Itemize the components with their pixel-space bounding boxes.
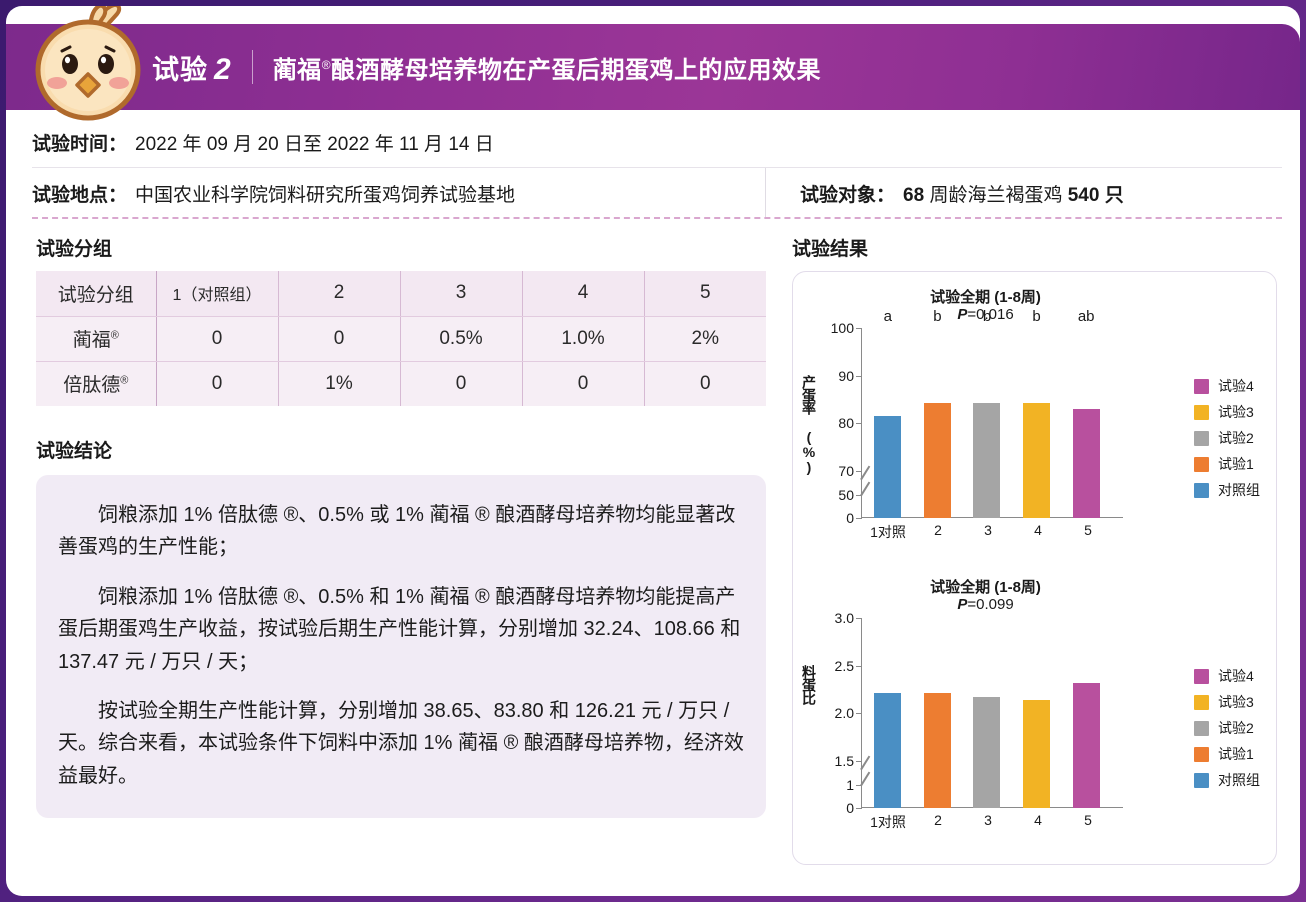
location-label: 试验地点： xyxy=(32,180,127,207)
chart-title: 试验全期 (1-8周) xyxy=(793,286,1278,307)
row-header: 倍肽德® xyxy=(36,361,156,406)
legend-swatch xyxy=(1194,379,1209,394)
registered-mark-icon: ® xyxy=(322,58,331,72)
bar xyxy=(874,416,901,518)
plot-area: 100 90 80 70 50 0 a b b b ab xyxy=(861,328,1111,518)
y-tick: 2.5 xyxy=(835,658,861,674)
plot-area: 3.0 2.5 2.0 1.5 1 0 xyxy=(861,618,1111,808)
legend-item: 试验2 xyxy=(1194,718,1260,738)
table-cell: 2 xyxy=(278,271,400,316)
y-axis-label: 产蛋率 (%) xyxy=(799,375,819,474)
bar-item: b xyxy=(962,328,1012,518)
legend-item: 试验1 xyxy=(1194,454,1260,474)
info-subject: 试验对象： 68 周龄海兰褐蛋鸡 540 只 xyxy=(766,168,1124,218)
subject-label: 试验对象： xyxy=(800,180,895,207)
experiment-number: 2 xyxy=(208,53,232,86)
info-row-location-subject: 试验地点： 中国农业科学院饲料研究所蛋鸡饲养试验基地 试验对象： 68 周龄海兰… xyxy=(32,168,1282,218)
legend-label: 对照组 xyxy=(1218,480,1260,500)
bar-item xyxy=(913,618,963,808)
bar xyxy=(1023,700,1050,808)
header-divider xyxy=(252,50,253,84)
table-row: 试验分组 1（对照组） 2 3 4 5 xyxy=(36,271,766,316)
y-tick: 0 xyxy=(846,510,861,526)
subject-value: 68 周龄海兰褐蛋鸡 540 只 xyxy=(895,180,1124,207)
x-tick: 2 xyxy=(913,522,963,542)
x-tick: 1对照 xyxy=(863,812,913,832)
legend-swatch xyxy=(1194,457,1209,472)
table-cell: 0 xyxy=(644,361,766,406)
table-cell: 1.0% xyxy=(522,316,644,361)
results-heading: 试验结果 xyxy=(792,234,1282,261)
legend-label: 试验1 xyxy=(1218,744,1254,764)
left-column: 试验分组 试验分组 1（对照组） 2 3 4 5 蔺福® 0 0 0.5% 1.… xyxy=(36,234,771,818)
bar-item: a xyxy=(863,328,913,518)
legend-item: 试验3 xyxy=(1194,402,1260,422)
chart-feed-egg-ratio: 试验全期 (1-8周) P=0.099 料蛋比 3.0 2.5 2.0 1.5 … xyxy=(793,570,1278,860)
results-panel: 试验全期 (1-8周) P=0.016 产蛋率 (%) 100 90 80 70… xyxy=(792,271,1277,865)
table-cell: 2% xyxy=(644,316,766,361)
legend-label: 试验2 xyxy=(1218,428,1254,448)
table-cell: 0 xyxy=(278,316,400,361)
row-header: 试验分组 xyxy=(36,271,156,316)
info-location: 试验地点： 中国农业科学院饲料研究所蛋鸡饲养试验基地 xyxy=(32,168,766,218)
legend-item: 试验4 xyxy=(1194,666,1260,686)
header-banner: 试验2 蔺福®酿酒酵母培养物在产蛋后期蛋鸡上的应用效果 xyxy=(6,24,1300,110)
bar xyxy=(1073,409,1100,518)
legend-label: 试验2 xyxy=(1218,718,1254,738)
legend-label: 试验4 xyxy=(1218,666,1254,686)
poster-frame: 试验2 蔺福®酿酒酵母培养物在产蛋后期蛋鸡上的应用效果 xyxy=(0,0,1306,902)
bar-item xyxy=(962,618,1012,808)
legend-label: 对照组 xyxy=(1218,770,1260,790)
chart-legend: 试验4 试验3 试验2 试验1 对照组 xyxy=(1194,376,1260,500)
conclusion-paragraph: 饲粮添加 1% 倍肽德 ®、0.5% 或 1% 蔺福 ® 酿酒酵母培养物均能显著… xyxy=(58,499,744,564)
bar xyxy=(874,693,901,808)
registered-mark-icon: ® xyxy=(120,375,128,387)
y-tick: 50 xyxy=(838,487,861,503)
legend-label: 试验3 xyxy=(1218,402,1254,422)
legend-label: 试验3 xyxy=(1218,692,1254,712)
legend-swatch xyxy=(1194,695,1209,710)
chart-legend: 试验4 试验3 试验2 试验1 对照组 xyxy=(1194,666,1260,790)
chick-face-icon xyxy=(24,6,156,130)
bar-annotation: b xyxy=(933,308,941,325)
grouping-heading: 试验分组 xyxy=(36,234,771,261)
bar xyxy=(1073,683,1100,808)
table-cell: 1（对照组） xyxy=(156,271,278,316)
bar-annotation: a xyxy=(884,308,892,325)
dashed-divider xyxy=(32,217,1282,219)
y-axis-label: 料蛋比 xyxy=(799,665,819,704)
bar-item: b xyxy=(913,328,963,518)
bar-group: a b b b ab xyxy=(863,328,1111,518)
bar-group xyxy=(863,618,1111,808)
conclusion-paragraph: 按试验全期生产性能计算，分别增加 38.65、83.80 和 126.21 元 … xyxy=(58,695,744,792)
conclusion-paragraph: 饲粮添加 1% 倍肽德 ®、0.5% 和 1% 蔺福 ® 酿酒酵母培养物均能提高… xyxy=(58,581,744,678)
x-tick: 3 xyxy=(963,812,1013,832)
bar-annotation: b xyxy=(1032,308,1040,325)
conclusion-box: 饲粮添加 1% 倍肽德 ®、0.5% 或 1% 蔺福 ® 酿酒酵母培养物均能显著… xyxy=(36,475,766,818)
x-tick: 1对照 xyxy=(863,522,913,542)
table-cell: 0 xyxy=(156,316,278,361)
page-title: 蔺福®酿酒酵母培养物在产蛋后期蛋鸡上的应用效果 xyxy=(273,50,821,85)
bar xyxy=(924,403,951,518)
x-tick: 5 xyxy=(1063,812,1113,832)
y-tick: 1.5 xyxy=(835,753,861,769)
y-tick: 0 xyxy=(846,800,861,816)
bar-item: ab xyxy=(1061,328,1111,518)
legend-item: 试验2 xyxy=(1194,428,1260,448)
conclusion-heading: 试验结论 xyxy=(36,436,771,463)
table-row: 倍肽德® 0 1% 0 0 0 xyxy=(36,361,766,406)
time-label: 试验时间： xyxy=(32,129,127,156)
right-column: 试验结果 试验全期 (1-8周) P=0.016 产蛋率 (%) 100 90 … xyxy=(792,234,1282,865)
grouping-table: 试验分组 1（对照组） 2 3 4 5 蔺福® 0 0 0.5% 1.0% 2%… xyxy=(36,271,766,406)
bar xyxy=(924,693,951,808)
table-cell: 0 xyxy=(156,361,278,406)
legend-item: 试验1 xyxy=(1194,744,1260,764)
registered-mark-icon: ® xyxy=(111,330,119,342)
experiment-label: 试验2 xyxy=(152,48,232,87)
legend-label: 试验1 xyxy=(1218,454,1254,474)
bar-annotation: ab xyxy=(1078,308,1095,325)
y-tick: 80 xyxy=(838,415,861,431)
x-tick: 2 xyxy=(913,812,963,832)
legend-label: 试验4 xyxy=(1218,376,1254,396)
table-row: 蔺福® 0 0 0.5% 1.0% 2% xyxy=(36,316,766,361)
location-value: 中国农业科学院饲料研究所蛋鸡饲养试验基地 xyxy=(127,180,515,207)
legend-item: 试验4 xyxy=(1194,376,1260,396)
table-cell: 0 xyxy=(400,361,522,406)
table-cell: 3 xyxy=(400,271,522,316)
table-cell: 1% xyxy=(278,361,400,406)
bar-item xyxy=(1061,618,1111,808)
legend-swatch xyxy=(1194,483,1209,498)
x-tick: 3 xyxy=(963,522,1013,542)
legend-swatch xyxy=(1194,721,1209,736)
legend-swatch xyxy=(1194,405,1209,420)
info-row-time: 试验时间： 2022 年 09 月 20 日至 2022 年 11 月 14 日 xyxy=(32,118,1282,168)
table-cell: 0 xyxy=(522,361,644,406)
x-tick-labels: 1对照 2 3 4 5 xyxy=(863,812,1113,832)
x-tick: 4 xyxy=(1013,812,1063,832)
table-cell: 5 xyxy=(644,271,766,316)
poster-card: 试验2 蔺福®酿酒酵母培养物在产蛋后期蛋鸡上的应用效果 xyxy=(6,6,1300,896)
chart-title: 试验全期 (1-8周) xyxy=(793,576,1278,597)
chart-pvalue: P=0.099 xyxy=(793,596,1278,613)
legend-swatch xyxy=(1194,669,1209,684)
legend-swatch xyxy=(1194,747,1209,762)
y-tick: 2.0 xyxy=(835,705,861,721)
y-tick: 90 xyxy=(838,368,861,384)
y-tick: 3.0 xyxy=(835,610,861,626)
legend-swatch xyxy=(1194,431,1209,446)
bar-item: b xyxy=(1012,328,1062,518)
x-tick: 5 xyxy=(1063,522,1113,542)
table-cell: 0.5% xyxy=(400,316,522,361)
bar-annotation: b xyxy=(983,308,991,325)
x-tick-labels: 1对照 2 3 4 5 xyxy=(863,522,1113,542)
legend-item: 试验3 xyxy=(1194,692,1260,712)
bar xyxy=(973,403,1000,518)
y-tick: 70 xyxy=(838,463,861,479)
time-value: 2022 年 09 月 20 日至 2022 年 11 月 14 日 xyxy=(127,129,494,156)
legend-swatch xyxy=(1194,773,1209,788)
table-cell: 4 xyxy=(522,271,644,316)
legend-item: 对照组 xyxy=(1194,770,1260,790)
y-tick: 100 xyxy=(831,320,861,336)
row-header: 蔺福® xyxy=(36,316,156,361)
x-tick: 4 xyxy=(1013,522,1063,542)
y-tick: 1 xyxy=(846,777,861,793)
chart-egg-production-rate: 试验全期 (1-8周) P=0.016 产蛋率 (%) 100 90 80 70… xyxy=(793,280,1278,570)
bar xyxy=(1023,403,1050,518)
bar-item xyxy=(863,618,913,808)
bar xyxy=(973,697,1000,808)
bar-item xyxy=(1012,618,1062,808)
legend-item: 对照组 xyxy=(1194,480,1260,500)
